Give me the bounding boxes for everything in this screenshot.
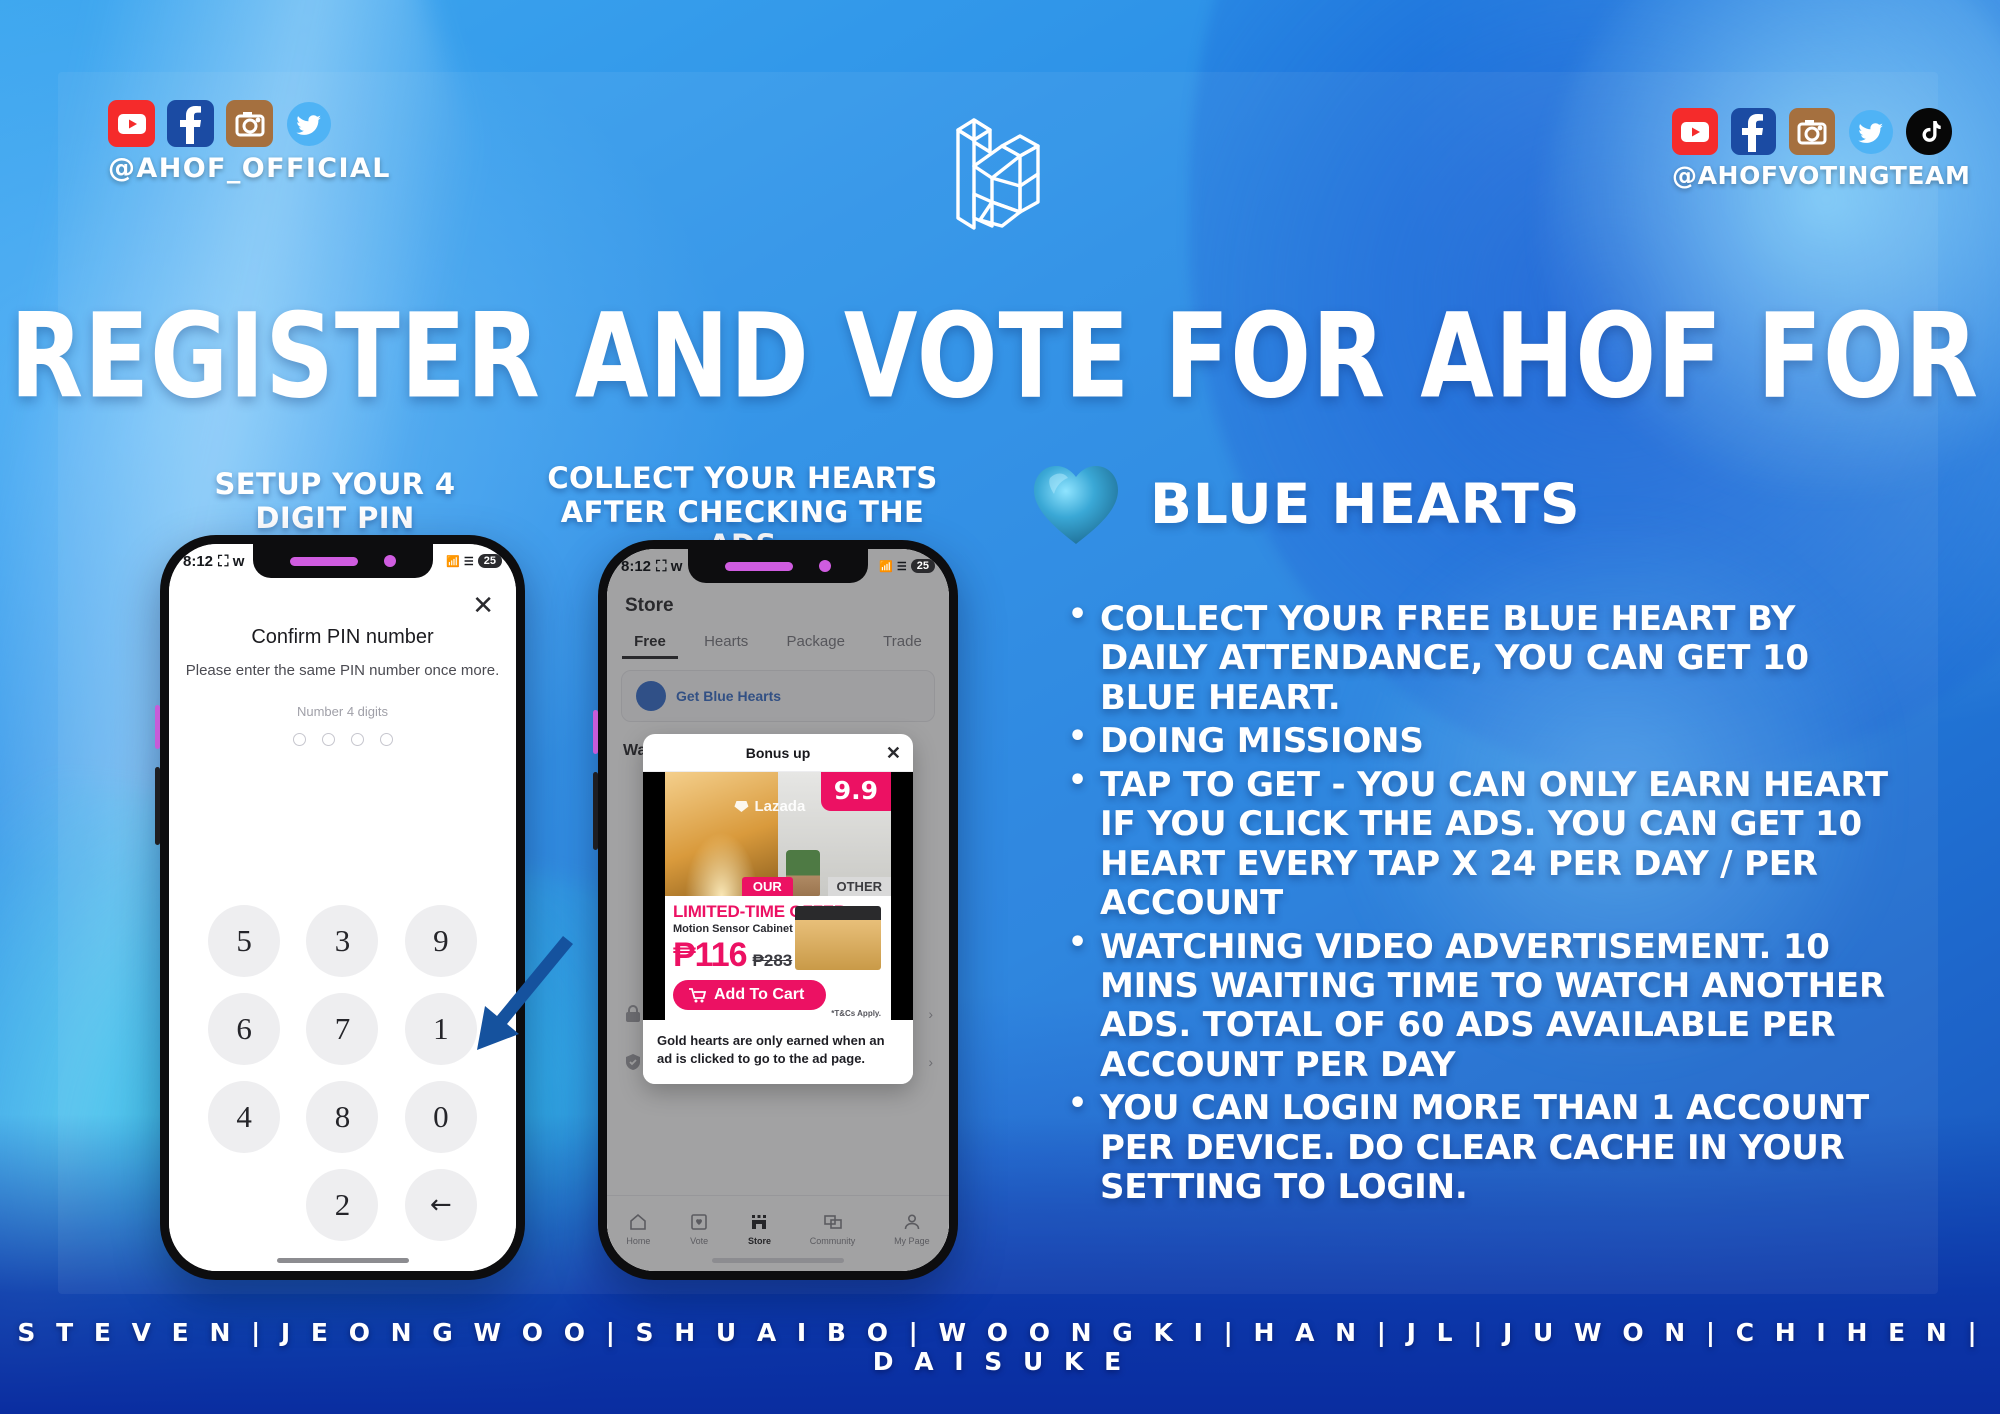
gold-hearts-note: Gold hearts are only earned when an ad i… bbox=[643, 1020, 913, 1084]
tag-our: OUR bbox=[742, 877, 793, 896]
pin-dot bbox=[293, 733, 306, 746]
status-left: 8:12 ⛶ w bbox=[621, 558, 682, 575]
ad-offer-block: LIMITED-TIME OFFER Motion Sensor Cabinet… bbox=[665, 896, 891, 1020]
key-4[interactable]: 7 bbox=[306, 993, 378, 1065]
status-time: 8:12 bbox=[183, 553, 213, 570]
social-icons-right bbox=[1672, 108, 1952, 155]
pin-title: Confirm PIN number bbox=[169, 626, 516, 649]
pin-dots bbox=[169, 733, 516, 746]
facebook-icon[interactable] bbox=[167, 100, 214, 147]
close-icon[interactable]: ✕ bbox=[472, 592, 494, 618]
home-indicator bbox=[712, 1258, 844, 1263]
pin-dot bbox=[322, 733, 335, 746]
list-item: WATCHING VIDEO ADVERTISEMENT. 10 MINS WA… bbox=[1062, 928, 1892, 1086]
list-item: YOU CAN LOGIN MORE THAN 1 ACCOUNT PER DE… bbox=[1062, 1089, 1892, 1207]
key-3[interactable]: 6 bbox=[208, 993, 280, 1065]
handle-left: @AHOF_OFFICIAL bbox=[108, 153, 368, 184]
phone-mockup-store: Store Free Hearts Package Trade Get Blue… bbox=[598, 540, 958, 1280]
status-misc-icons: ⛶ w bbox=[218, 553, 244, 570]
product-thumbnail bbox=[795, 906, 881, 970]
phone-notch bbox=[688, 549, 868, 583]
list-item: DOING MISSIONS bbox=[1062, 722, 1892, 761]
phone2-screen: Store Free Hearts Package Trade Get Blue… bbox=[607, 549, 949, 1271]
blue-heart-icon bbox=[1030, 462, 1122, 546]
key-6[interactable]: 4 bbox=[208, 1081, 280, 1153]
status-left: 8:12 ⛶ w bbox=[183, 553, 244, 570]
ad-comparison-photos: 9.9 Lazada OUR OTHER bbox=[665, 772, 891, 896]
key-0[interactable]: 5 bbox=[208, 905, 280, 977]
blue-arrow-annotation bbox=[455, 930, 575, 1060]
lazada-label: Lazada bbox=[754, 798, 805, 815]
tag-other: OTHER bbox=[828, 877, 892, 896]
home-indicator bbox=[277, 1258, 409, 1263]
wifi-icon: 📶 bbox=[446, 555, 460, 568]
lazada-bag-icon bbox=[733, 800, 749, 813]
phone-notch bbox=[253, 544, 433, 578]
pin-dot bbox=[351, 733, 364, 746]
status-right: 📶 ☰ 25 bbox=[879, 559, 935, 573]
phone1-screen: 8:12 ⛶ w 📶 ☰ 25 ✕ Confirm PIN number Ple… bbox=[169, 544, 516, 1271]
list-item: TAP TO GET - YOU CAN ONLY EARN HEART IF … bbox=[1062, 766, 1892, 924]
twitter-icon[interactable] bbox=[1848, 108, 1894, 155]
instagram-icon[interactable] bbox=[226, 100, 273, 147]
add-to-cart-button[interactable]: Add To Cart bbox=[673, 980, 826, 1010]
blue-hearts-bullet-list: COLLECT YOUR FREE BLUE HEART BY DAILY AT… bbox=[1062, 600, 1892, 1212]
social-icons-left bbox=[108, 100, 368, 147]
status-right: 📶 ☰ 25 bbox=[446, 554, 502, 568]
price-original: ₱283 bbox=[753, 951, 793, 971]
lazada-logo: Lazada bbox=[733, 798, 805, 815]
wifi-icon: 📶 bbox=[879, 560, 893, 573]
confirm-pin-screen: 8:12 ⛶ w 📶 ☰ 25 ✕ Confirm PIN number Ple… bbox=[169, 544, 516, 1271]
pin-keypad: 5 3 9 6 7 1 4 8 0 2 ← bbox=[195, 905, 490, 1241]
battery-badge: 25 bbox=[478, 554, 502, 568]
handle-right: @AHOFVOTINGTEAM bbox=[1672, 161, 1952, 190]
youtube-icon[interactable] bbox=[1672, 108, 1718, 155]
add-to-cart-label: Add To Cart bbox=[714, 986, 804, 1004]
instagram-icon[interactable] bbox=[1789, 108, 1835, 155]
key-1[interactable]: 3 bbox=[306, 905, 378, 977]
close-icon[interactable]: ✕ bbox=[886, 743, 901, 764]
store-screen: Store Free Hearts Package Trade Get Blue… bbox=[607, 549, 949, 1271]
list-item: COLLECT YOUR FREE BLUE HEART BY DAILY AT… bbox=[1062, 600, 1892, 718]
member-names-footer: S T E V E N | J E O N G W O O | S H U A … bbox=[0, 1318, 2000, 1376]
signal-icon: ☰ bbox=[897, 560, 907, 573]
sale-badge: 9.9 bbox=[821, 772, 891, 811]
key-8[interactable]: 0 bbox=[405, 1081, 477, 1153]
tiktok-icon[interactable] bbox=[1906, 108, 1952, 155]
key-10[interactable]: 2 bbox=[306, 1169, 378, 1241]
notch-speaker bbox=[725, 562, 793, 571]
phone-mockup-pin: 8:12 ⛶ w 📶 ☰ 25 ✕ Confirm PIN number Ple… bbox=[160, 535, 525, 1280]
ad-modal-title: Bonus up bbox=[746, 745, 811, 761]
pin-subtitle: Please enter the same PIN number once mo… bbox=[169, 662, 516, 679]
facebook-icon[interactable] bbox=[1731, 108, 1777, 155]
twitter-icon[interactable] bbox=[285, 100, 332, 147]
blue-hearts-title: BLUE HEARTS bbox=[1150, 472, 1581, 536]
fancast-k-logo bbox=[940, 108, 1060, 238]
status-time: 8:12 bbox=[621, 558, 651, 575]
key-7[interactable]: 8 bbox=[306, 1081, 378, 1153]
page-title: REGISTER AND VOTE FOR AHOF FOR FANCAST bbox=[10, 288, 1990, 425]
backspace-key[interactable]: ← bbox=[405, 1169, 477, 1241]
battery-badge: 25 bbox=[911, 559, 935, 573]
social-cluster-right: @AHOFVOTINGTEAM bbox=[1672, 108, 1952, 190]
cart-icon bbox=[689, 988, 706, 1003]
notch-speaker bbox=[290, 557, 358, 566]
pin-dot bbox=[380, 733, 393, 746]
youtube-icon[interactable] bbox=[108, 100, 155, 147]
ad-modal-header: Bonus up ✕ bbox=[643, 734, 913, 772]
blue-hearts-header: BLUE HEARTS bbox=[1030, 462, 1581, 546]
ad-fineprint: *T&Cs Apply. bbox=[831, 1009, 881, 1018]
social-cluster-left: @AHOF_OFFICIAL bbox=[108, 100, 368, 184]
pin-hint: Number 4 digits bbox=[169, 704, 516, 719]
notch-camera bbox=[384, 555, 396, 567]
price-current: ₱116 bbox=[673, 936, 747, 975]
ad-creative[interactable]: 9.9 Lazada OUR OTHER LIMITED-TIME OFFER … bbox=[643, 772, 913, 1020]
notch-camera bbox=[819, 560, 831, 572]
key-blank bbox=[208, 1169, 280, 1241]
ad-modal: Bonus up ✕ 9.9 Lazada OUR OTHER bbox=[643, 734, 913, 1084]
status-misc-icons: ⛶ w bbox=[656, 558, 682, 575]
signal-icon: ☰ bbox=[464, 555, 474, 568]
